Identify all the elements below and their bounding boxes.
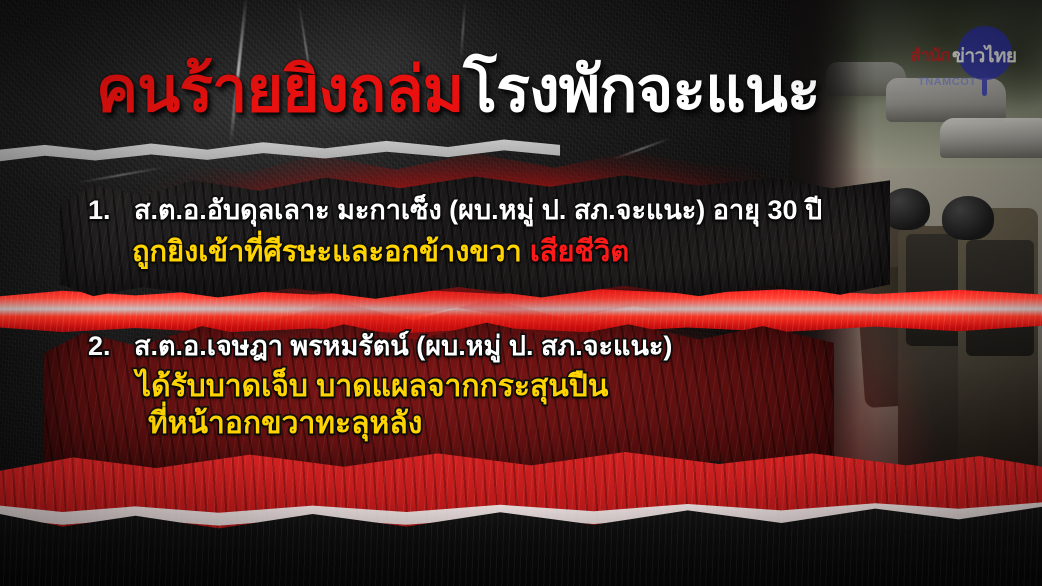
item-1-injury-text: ถูกยิงเข้าที่ศีรษะและอกข้างขวา <box>132 236 522 268</box>
item-1-line-1: 1.ส.ต.อ.อับดุลเลาะ มะกาเซ็ง (ผบ.หมู่ ป. … <box>88 196 822 225</box>
item-2-line-1: 2.ส.ต.อ.เจษฎา พรหมรัตน์ (ผบ.หมู่ ป. สภ.จ… <box>88 332 672 361</box>
logo-blue-stem <box>982 74 987 96</box>
headline-red-part: คนร้ายยิงถล่ม <box>96 59 463 122</box>
item-1-name-and-rank: ส.ต.อ.อับดุลเลาะ มะกาเซ็ง (ผบ.หมู่ ป. สภ… <box>134 195 822 225</box>
item-2-name-and-rank: ส.ต.อ.เจษฎา พรหมรัตน์ (ผบ.หมู่ ป. สภ.จะแ… <box>134 331 672 361</box>
item-1-line-2: ถูกยิงเข้าที่ศีรษะและอกข้างขวา เสียชีวิต <box>88 237 822 268</box>
victim-item-1: 1.ส.ต.อ.อับดุลเลาะ มะกาเซ็ง (ผบ.หมู่ ป. … <box>88 196 822 267</box>
headline-white-part: โรงพักจะแนะ <box>463 59 819 122</box>
item-1-number: 1. <box>88 196 134 225</box>
logo-text-red: สำนัก <box>910 42 950 69</box>
item-2-line-2: ได้รับบาดเจ็บ บาดแผลจากกระสุนปืน <box>88 371 672 403</box>
item-2-number: 2. <box>88 332 134 361</box>
logo-text-white: ข่าวไทย <box>952 41 1017 71</box>
news-graphic: คนร้ายยิงถล่ม โรงพักจะแนะ 1.ส.ต.อ.อับดุล… <box>0 0 1042 586</box>
item-2-line-3: ที่หน้าอกขวาทะลุหลัง <box>88 408 672 440</box>
item-1-status-deceased: เสียชีวิต <box>530 236 629 268</box>
channel-watermark-logo: สำนัก ข่าวไทย TNAMCOT <box>906 22 1028 96</box>
victim-item-2: 2.ส.ต.อ.เจษฎา พรหมรัตน์ (ผบ.หมู่ ป. สภ.จ… <box>88 332 672 440</box>
logo-subtext: TNAMCOT <box>918 76 977 88</box>
headline: คนร้ายยิงถล่ม โรงพักจะแนะ <box>96 53 916 127</box>
